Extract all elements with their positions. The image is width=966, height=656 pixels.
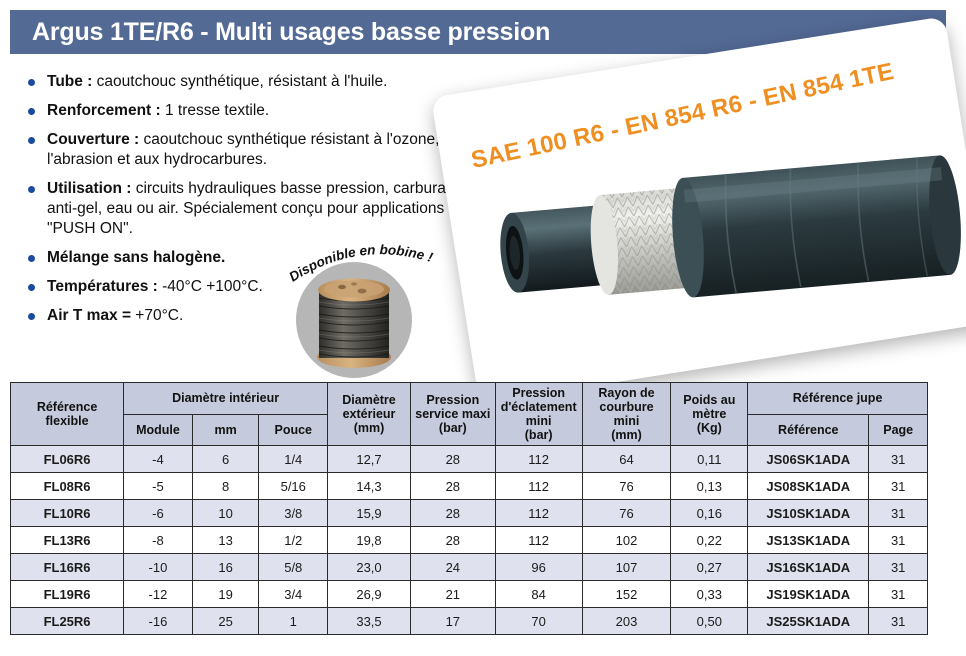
cell-di-mm: 8: [192, 473, 259, 500]
table-row: FL19R6-12193/426,921841520,33JS19SK1ADA3…: [11, 581, 928, 608]
cell-reference-flexible: FL08R6: [11, 473, 124, 500]
cell-rayon-courbure: 102: [582, 527, 671, 554]
table-row: FL10R6-6103/815,928112760,16JS10SK1ADA31: [11, 500, 928, 527]
cell-module: -8: [124, 527, 193, 554]
table-row: FL06R6-461/412,728112640,11JS06SK1ADA31: [11, 446, 928, 473]
cell-reference-flexible: FL10R6: [11, 500, 124, 527]
spool-illustration: [296, 262, 412, 378]
bullet-icon: [28, 137, 35, 144]
cell-pression-eclatement: 112: [495, 527, 582, 554]
cell-diametre-exterieur: 23,0: [328, 554, 411, 581]
cell-poids: 0,11: [671, 446, 748, 473]
spec-item: Renforcement : 1 tresse textile.: [28, 101, 480, 121]
cell-jupe-page: 31: [869, 527, 928, 554]
cell-jupe-page: 31: [869, 608, 928, 635]
cell-jupe-reference: JS25SK1ADA: [748, 608, 869, 635]
cell-poids: 0,33: [671, 581, 748, 608]
spool-photo: Disponible en bobine !: [296, 262, 412, 378]
cell-jupe-page: 31: [869, 446, 928, 473]
table-header: Référence flexible Diamètre intérieur Di…: [11, 383, 928, 446]
table-row: FL08R6-585/1614,328112760,13JS08SK1ADA31: [11, 473, 928, 500]
spec-item-label: Mélange sans halogène.: [47, 249, 225, 266]
spec-item-label: Utilisation :: [47, 180, 131, 197]
cell-reference-flexible: FL16R6: [11, 554, 124, 581]
cell-rayon-courbure: 76: [582, 500, 671, 527]
col-poids-metre: Poids au mètre (Kg): [671, 383, 748, 446]
col-pression-service: Pression service maxi (bar): [410, 383, 495, 446]
bullet-icon: [28, 79, 35, 86]
cell-jupe-page: 31: [869, 500, 928, 527]
cell-module: -10: [124, 554, 193, 581]
col-pression-eclatement: Pression d'éclatement mini (bar): [495, 383, 582, 446]
cell-di-pouce: 1: [259, 608, 328, 635]
col-di-pouce: Pouce: [259, 414, 328, 446]
cell-di-mm: 13: [192, 527, 259, 554]
cell-pression-service: 28: [410, 473, 495, 500]
cell-jupe-page: 31: [869, 581, 928, 608]
cell-rayon-courbure: 203: [582, 608, 671, 635]
cell-diametre-exterieur: 12,7: [328, 446, 411, 473]
cell-jupe-reference: JS10SK1ADA: [748, 500, 869, 527]
cell-poids: 0,13: [671, 473, 748, 500]
cell-module: -6: [124, 500, 193, 527]
col-diametre-exterieur: Diamètre extérieur (mm): [328, 383, 411, 446]
cell-poids: 0,27: [671, 554, 748, 581]
product-image-card: SAE 100 R6 - EN 854 R6 - EN 854 1TE: [431, 16, 966, 404]
cell-jupe-reference: JS13SK1ADA: [748, 527, 869, 554]
cell-di-pouce: 1/2: [259, 527, 328, 554]
cell-pression-eclatement: 112: [495, 473, 582, 500]
cell-pression-service: 21: [410, 581, 495, 608]
specifications-list: Tube : caoutchouc synthétique, résistant…: [28, 72, 480, 335]
bullet-icon: [28, 108, 35, 115]
cell-diametre-exterieur: 19,8: [328, 527, 411, 554]
table-row: FL13R6-8131/219,8281121020,22JS13SK1ADA3…: [11, 527, 928, 554]
cell-jupe-page: 31: [869, 473, 928, 500]
col-jupe-reference: Référence: [748, 414, 869, 446]
cell-jupe-reference: JS16SK1ADA: [748, 554, 869, 581]
cell-pression-service: 28: [410, 446, 495, 473]
spec-item: Températures : -40°C +100°C.: [28, 277, 480, 297]
spec-item-value: +70°C.: [131, 307, 183, 324]
cell-diametre-exterieur: 14,3: [328, 473, 411, 500]
col-diametre-interieur: Diamètre intérieur: [124, 383, 328, 415]
cell-module: -12: [124, 581, 193, 608]
col-di-mm: mm: [192, 414, 259, 446]
cell-di-pouce: 3/4: [259, 581, 328, 608]
cell-di-mm: 10: [192, 500, 259, 527]
hose-cutaway-illustration: [470, 137, 966, 330]
spec-item-label: Tube :: [47, 73, 92, 90]
bullet-icon: [28, 313, 35, 320]
cell-pression-service: 28: [410, 527, 495, 554]
cell-reference-flexible: FL13R6: [11, 527, 124, 554]
cell-pression-eclatement: 70: [495, 608, 582, 635]
cell-module: -16: [124, 608, 193, 635]
cell-diametre-exterieur: 15,9: [328, 500, 411, 527]
cell-rayon-courbure: 64: [582, 446, 671, 473]
table-body: FL06R6-461/412,728112640,11JS06SK1ADA31F…: [11, 446, 928, 635]
cell-pression-eclatement: 96: [495, 554, 582, 581]
cell-pression-eclatement: 84: [495, 581, 582, 608]
cell-jupe-reference: JS06SK1ADA: [748, 446, 869, 473]
cell-di-pouce: 1/4: [259, 446, 328, 473]
spec-item-value: caoutchouc synthétique, résistant à l'hu…: [92, 73, 387, 90]
spec-item: Utilisation : circuits hydrauliques bass…: [28, 179, 480, 239]
cell-pression-service: 28: [410, 500, 495, 527]
table-header-row-1: Référence flexible Diamètre intérieur Di…: [11, 383, 928, 415]
spec-item-value: -40°C +100°C.: [158, 278, 263, 295]
cell-rayon-courbure: 152: [582, 581, 671, 608]
spec-item: Couverture : caoutchouc synthétique rési…: [28, 130, 480, 170]
col-jupe-page: Page: [869, 414, 928, 446]
cell-module: -5: [124, 473, 193, 500]
cell-diametre-exterieur: 33,5: [328, 608, 411, 635]
cell-poids: 0,50: [671, 608, 748, 635]
cell-di-mm: 19: [192, 581, 259, 608]
spec-item-label: Air T max =: [47, 307, 131, 324]
cell-reference-flexible: FL19R6: [11, 581, 124, 608]
cell-reference-flexible: FL25R6: [11, 608, 124, 635]
cell-reference-flexible: FL06R6: [11, 446, 124, 473]
spec-item: Tube : caoutchouc synthétique, résistant…: [28, 72, 480, 92]
spec-item-value: 1 tresse textile.: [161, 102, 270, 119]
bullet-icon: [28, 255, 35, 262]
spec-item: Air T max = +70°C.: [28, 306, 480, 326]
spool-photo-background: [296, 262, 412, 378]
spec-item-label: Couverture :: [47, 131, 139, 148]
page-title: Argus 1TE/R6 - Multi usages basse pressi…: [32, 18, 550, 47]
cell-di-pouce: 3/8: [259, 500, 328, 527]
cell-pression-eclatement: 112: [495, 500, 582, 527]
bullet-icon: [28, 186, 35, 193]
cell-rayon-courbure: 76: [582, 473, 671, 500]
cell-jupe-page: 31: [869, 554, 928, 581]
table-row: FL25R6-1625133,517702030,50JS25SK1ADA31: [11, 608, 928, 635]
col-rayon-courbure: Rayon de courbure mini (mm): [582, 383, 671, 446]
cell-pression-eclatement: 112: [495, 446, 582, 473]
cell-di-pouce: 5/8: [259, 554, 328, 581]
cell-pression-service: 24: [410, 554, 495, 581]
cell-di-pouce: 5/16: [259, 473, 328, 500]
col-module: Module: [124, 414, 193, 446]
spec-item: Mélange sans halogène.: [28, 248, 480, 268]
col-reference-jupe: Référence jupe: [748, 383, 928, 415]
cell-jupe-reference: JS08SK1ADA: [748, 473, 869, 500]
table-row: FL16R6-10165/823,024961070,27JS16SK1ADA3…: [11, 554, 928, 581]
bullet-icon: [28, 284, 35, 291]
spec-item-label: Renforcement :: [47, 102, 161, 119]
cell-pression-service: 17: [410, 608, 495, 635]
cell-di-mm: 6: [192, 446, 259, 473]
cell-di-mm: 16: [192, 554, 259, 581]
spec-item-label: Températures :: [47, 278, 158, 295]
cell-module: -4: [124, 446, 193, 473]
cell-poids: 0,22: [671, 527, 748, 554]
cell-jupe-reference: JS19SK1ADA: [748, 581, 869, 608]
col-reference-flexible: Référence flexible: [11, 383, 124, 446]
specification-table: Référence flexible Diamètre intérieur Di…: [10, 382, 928, 635]
cell-diametre-exterieur: 26,9: [328, 581, 411, 608]
cell-poids: 0,16: [671, 500, 748, 527]
cell-rayon-courbure: 107: [582, 554, 671, 581]
cell-di-mm: 25: [192, 608, 259, 635]
